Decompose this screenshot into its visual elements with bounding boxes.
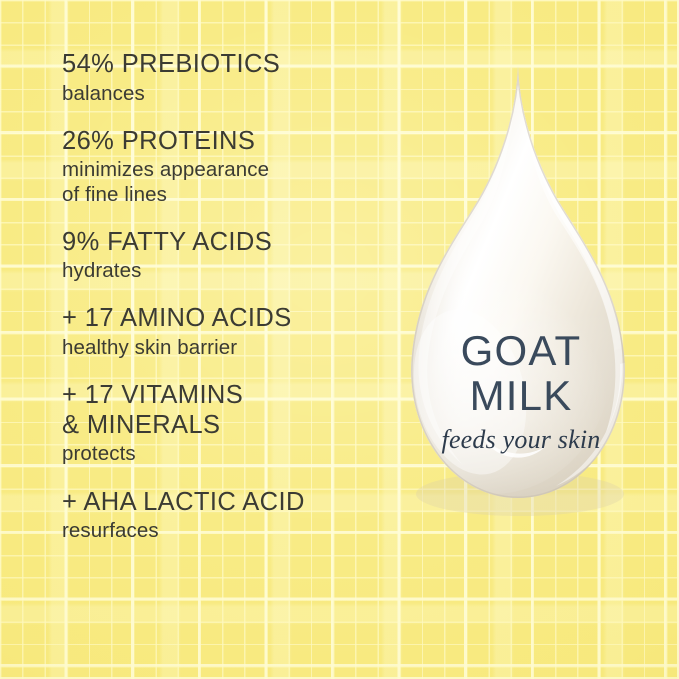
brand-tagline: feeds your skin bbox=[404, 425, 638, 455]
list-item: + AHA LACTIC ACID resurfaces bbox=[62, 488, 382, 544]
list-item: + 17 AMINO ACIDS healthy skin barrier bbox=[62, 304, 382, 360]
list-item: 9% FATTY ACIDS hydrates bbox=[62, 228, 382, 284]
droplet-lockup: GOAT MILK feeds your skin bbox=[404, 330, 638, 455]
brand-line-milk: MILK bbox=[404, 375, 638, 416]
ingredient-heading: 26% PROTEINS bbox=[62, 127, 382, 157]
ingredient-benefit: resurfaces bbox=[62, 519, 382, 543]
ingredient-heading: 54% PREBIOTICS bbox=[62, 50, 382, 80]
ingredient-benefit: balances bbox=[62, 82, 382, 106]
ingredient-benefit: hydrates bbox=[62, 259, 382, 283]
ingredient-heading: + 17 AMINO ACIDS bbox=[62, 304, 382, 334]
ingredient-benefit: healthy skin barrier bbox=[62, 336, 382, 360]
milk-droplet-illustration bbox=[396, 62, 646, 552]
milk-droplet-icon bbox=[396, 62, 646, 552]
ingredient-heading: 9% FATTY ACIDS bbox=[62, 228, 382, 258]
brand-line-goat: GOAT bbox=[404, 330, 638, 371]
list-item: 26% PROTEINS minimizes appearance of fin… bbox=[62, 127, 382, 207]
ingredient-benefit: protects bbox=[62, 442, 382, 466]
ingredient-list: 54% PREBIOTICS balances 26% PROTEINS min… bbox=[62, 50, 382, 543]
infographic-canvas: 54% PREBIOTICS balances 26% PROTEINS min… bbox=[0, 0, 679, 679]
ingredient-heading: + 17 VITAMINS & MINERALS bbox=[62, 381, 382, 440]
list-item: + 17 VITAMINS & MINERALS protects bbox=[62, 381, 382, 466]
list-item: 54% PREBIOTICS balances bbox=[62, 50, 382, 106]
ingredient-heading: + AHA LACTIC ACID bbox=[62, 488, 382, 518]
ingredient-benefit: minimizes appearance of fine lines bbox=[62, 158, 382, 206]
